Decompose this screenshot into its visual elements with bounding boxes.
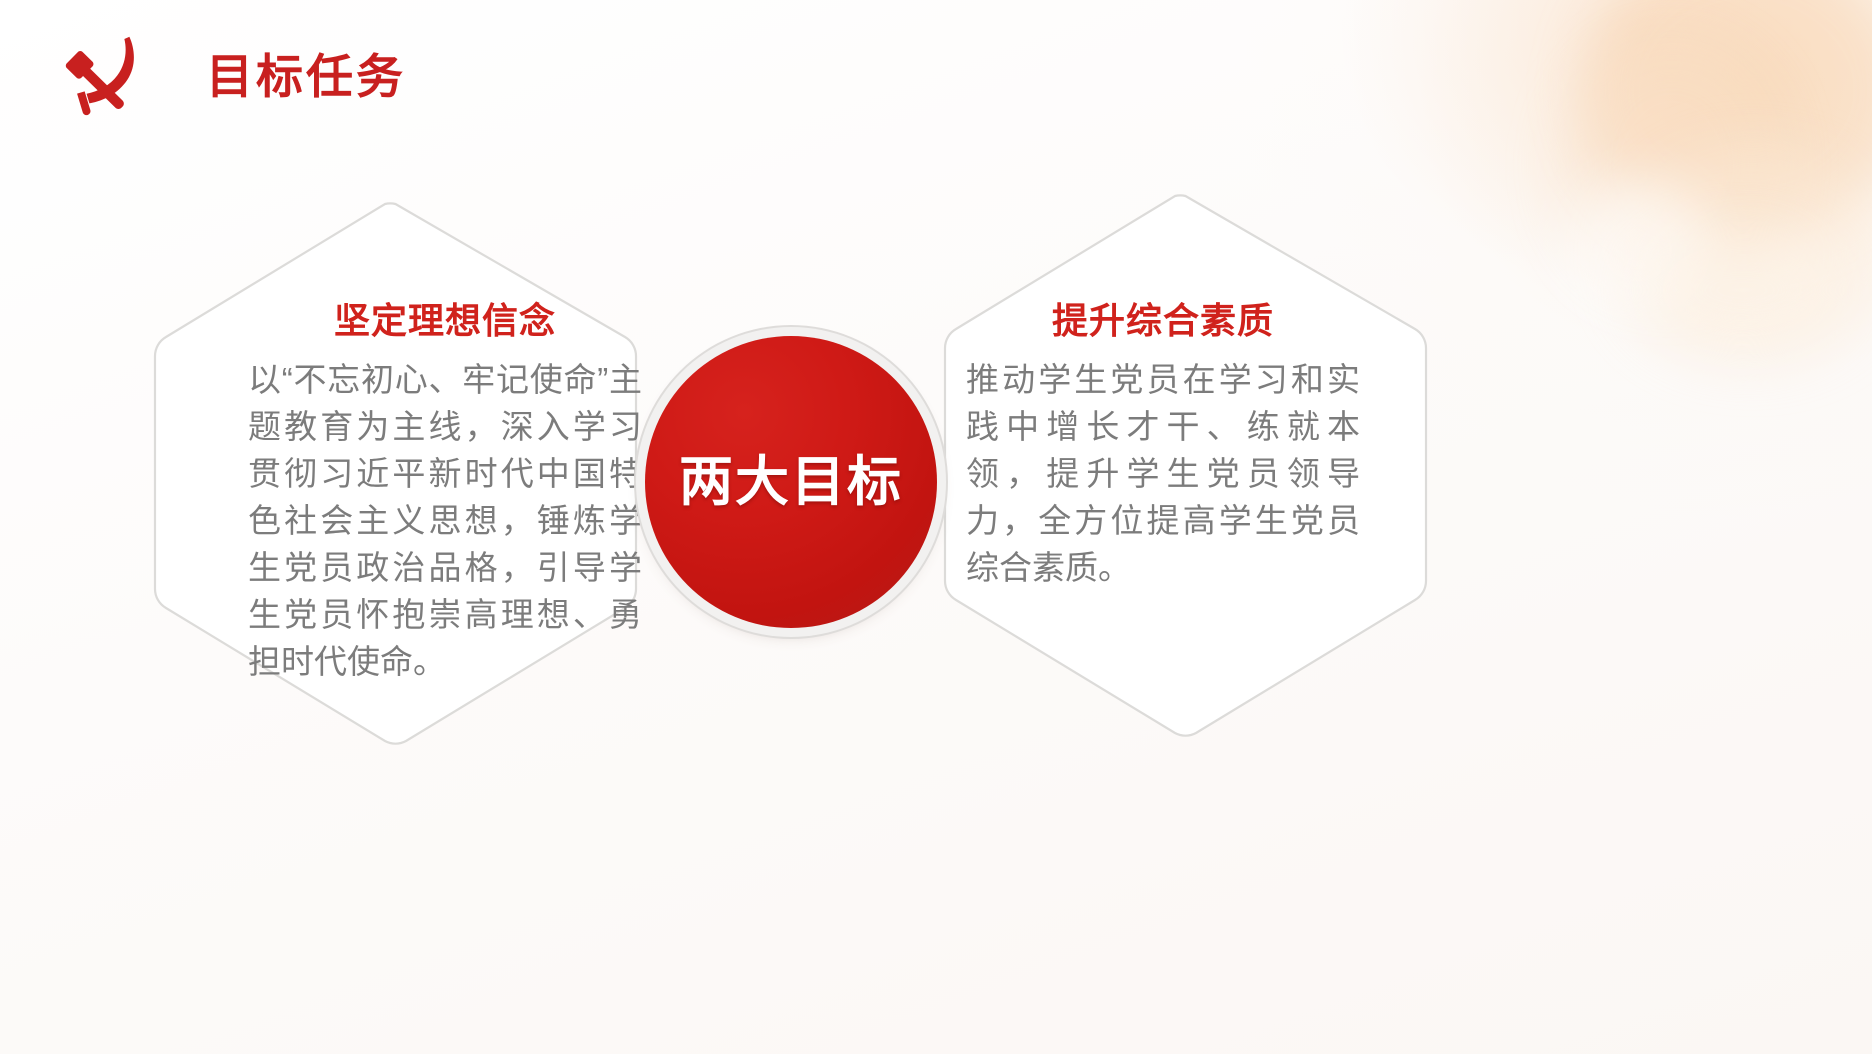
page-title: 目标任务	[206, 53, 406, 100]
goal-panel-right: 提升综合素质 推动学生党员在学习和实践中增长才干、练就本领，提升学生党员领导力，…	[966, 300, 1360, 592]
slide-header: 目标任务	[56, 34, 406, 118]
center-goal-circle: 两大目标	[645, 336, 937, 628]
watermark-blob	[1562, 40, 1782, 290]
watermark-blob	[1582, 0, 1872, 240]
panel-left-body: 以“不忘初心、牢记使命”主题教育为主线，深入学习贯彻习近平新时代中国特色社会主义…	[248, 357, 642, 685]
center-goal-label: 两大目标	[679, 455, 903, 509]
panel-right-title: 提升综合素质	[966, 300, 1360, 341]
panel-left-title: 坚定理想信念	[248, 300, 642, 341]
watermark-blob	[1562, 180, 1712, 320]
slide-canvas: 目标任务 坚定理想信念 以“不忘初心、牢记使命”主题教育为主线，深入学习贯彻习近…	[0, 0, 1872, 1054]
watermark-blob	[1642, 230, 1842, 350]
watermark-blob	[1622, 150, 1872, 360]
panel-right-body: 推动学生党员在学习和实践中增长才干、练就本领，提升学生党员领导力，全方位提高学生…	[966, 357, 1360, 591]
goal-panel-left: 坚定理想信念 以“不忘初心、牢记使命”主题教育为主线，深入学习贯彻习近平新时代中…	[248, 300, 642, 685]
party-hammer-sickle-icon	[56, 34, 148, 118]
